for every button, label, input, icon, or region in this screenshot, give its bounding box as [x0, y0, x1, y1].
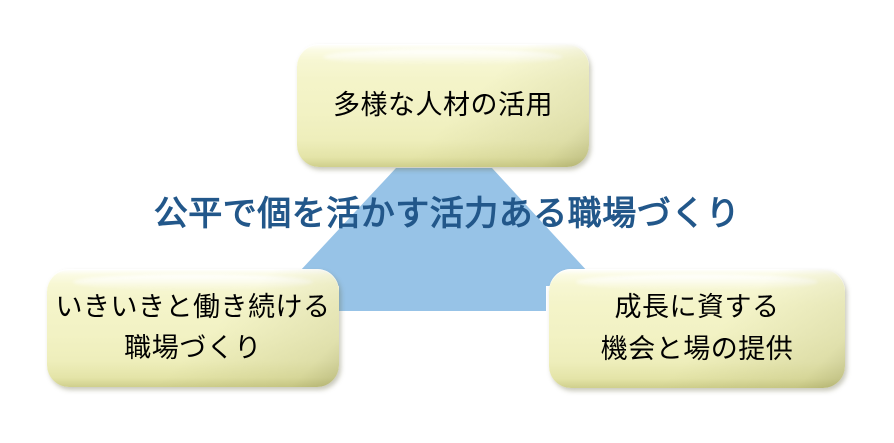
diagram-canvas: 公平で個を活かす活力ある職場づくり 多様な人材の活用 いきいきと働き続ける 職場… [0, 0, 894, 443]
concept-box-bottom-right[interactable]: 成長に資する 機会と場の提供 [549, 269, 845, 388]
concept-box-bottom-left-line-2: 職場づくり [124, 328, 262, 369]
concept-box-top-line-1: 多様な人材の活用 [333, 85, 553, 126]
concept-box-bottom-right-line-2: 機会と場の提供 [601, 329, 794, 370]
concept-box-bottom-right-line-1: 成長に資する [615, 287, 780, 328]
concept-box-bottom-left-line-1: いきいきと働き続ける [56, 287, 331, 328]
concept-box-bottom-left[interactable]: いきいきと働き続ける 職場づくり [47, 269, 339, 387]
concept-box-top[interactable]: 多様な人材の活用 [297, 44, 589, 167]
page-title: 公平で個を活かす活力ある職場づくり [0, 186, 894, 235]
